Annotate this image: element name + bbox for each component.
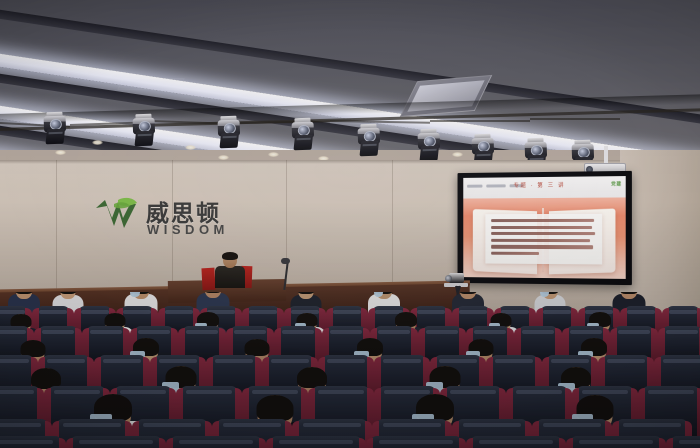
seat-highlight (0, 359, 29, 363)
seat-highlight (383, 423, 441, 427)
seat-highlight (623, 423, 681, 427)
recessed-downlight-icon (92, 140, 103, 145)
seat-highlight (0, 440, 53, 444)
seat-highlight (138, 330, 170, 334)
slide-corner-logo: 党建 (611, 181, 621, 187)
conference-hall-photo: 威思顿 WISDOM 专题 · 第 三 讲 党建 (0, 0, 700, 448)
slide-body (463, 197, 625, 279)
stage-light-icon (132, 114, 155, 149)
recessed-downlight-icon (185, 145, 196, 150)
seat-highlight (543, 310, 570, 314)
seat-highlight (495, 359, 533, 363)
seat-highlight (0, 423, 41, 427)
seat-highlight (439, 359, 477, 363)
slide-header-bar: 专题 · 第 三 讲 党建 (463, 176, 625, 199)
seat-highlight (666, 330, 698, 334)
seat-highlight (379, 440, 453, 444)
seat-highlight (333, 310, 360, 314)
seat-highlight (103, 359, 141, 363)
camera-lens-icon (445, 275, 452, 282)
company-logo: 威思顿 WISDOM (94, 192, 244, 248)
seat-highlight (679, 440, 700, 444)
seat-highlight (607, 359, 645, 363)
seat-highlight (215, 359, 253, 363)
seat-highlight (252, 390, 298, 394)
seat-highlight (330, 330, 362, 334)
presenter (215, 253, 245, 287)
seat-highlight (327, 359, 365, 363)
auditorium-seat (170, 436, 262, 448)
seat-highlight (648, 390, 694, 394)
seat-highlight (282, 330, 314, 334)
audience-member-hair (297, 367, 327, 388)
seat-highlight (669, 310, 696, 314)
seat-highlight (186, 390, 232, 394)
recessed-downlight-icon (268, 152, 279, 157)
audience-member-hair (256, 395, 293, 421)
auditorium-seat (470, 436, 562, 448)
seat-highlight (39, 310, 66, 314)
stage-light-icon (217, 116, 240, 151)
logo-english-text: WISDOM (147, 222, 229, 237)
seat-highlight (47, 359, 85, 363)
seat-highlight (516, 390, 562, 394)
auditorium-seat (670, 436, 700, 448)
seat-highlight (582, 390, 628, 394)
auditorium-seat (70, 436, 162, 448)
audience-member-hair (395, 312, 417, 327)
seat-highlight (0, 330, 26, 334)
recessed-downlight-icon (55, 150, 66, 155)
seat-highlight (570, 330, 602, 334)
rig-cable (430, 120, 530, 122)
seat-highlight (143, 423, 201, 427)
seat-highlight (543, 423, 601, 427)
seat-highlight (303, 423, 361, 427)
seat-highlight (179, 440, 253, 444)
rig-cable (530, 118, 620, 120)
audience-member-hair (105, 313, 126, 327)
seat-highlight (383, 359, 421, 363)
ceiling-panel (117, 78, 185, 90)
auditorium-seat (370, 436, 462, 448)
seat-highlight (79, 440, 153, 444)
seat-highlight (627, 310, 654, 314)
stage-light-icon (417, 129, 440, 164)
seat-highlight (186, 330, 218, 334)
seat-highlight (579, 440, 653, 444)
leaf-w-logo-icon (94, 196, 140, 238)
seat-highlight (90, 330, 122, 334)
seat-highlight (378, 330, 410, 334)
seat-highlight (474, 330, 506, 334)
seat-highlight (663, 359, 700, 363)
auditorium-seat (0, 436, 62, 448)
seat-highlight (42, 330, 74, 334)
seat-highlight (0, 390, 34, 394)
auditorium-seat (570, 436, 662, 448)
seat-highlight (551, 359, 589, 363)
slide-text-card (485, 214, 602, 264)
auditorium-seat (270, 436, 362, 448)
seat-highlight (279, 440, 353, 444)
recessed-downlight-icon (452, 152, 463, 157)
seat-highlight (234, 330, 266, 334)
presentation-slide: 专题 · 第 三 讲 党建 (463, 176, 625, 279)
seat-highlight (618, 330, 650, 334)
projection-screen: 专题 · 第 三 讲 党建 (458, 171, 632, 285)
stage-light-icon (43, 112, 66, 147)
seat-highlight (318, 390, 364, 394)
audience-member-hair (245, 339, 270, 356)
red-banner-left (201, 268, 215, 291)
microphone-head-icon (281, 258, 290, 264)
seat-highlight (426, 330, 458, 334)
seat-highlight (63, 423, 121, 427)
audience-seating (0, 292, 700, 448)
stage-light-icon (291, 118, 314, 153)
stage-light-icon (357, 124, 380, 159)
slide-title: 专题 · 第 三 讲 (513, 181, 565, 189)
seat-highlight (479, 440, 553, 444)
seat-highlight (223, 423, 281, 427)
seat-highlight (271, 359, 309, 363)
seat-highlight (249, 310, 276, 314)
seat-highlight (159, 359, 197, 363)
seat-highlight (463, 423, 521, 427)
seat-highlight (522, 330, 554, 334)
